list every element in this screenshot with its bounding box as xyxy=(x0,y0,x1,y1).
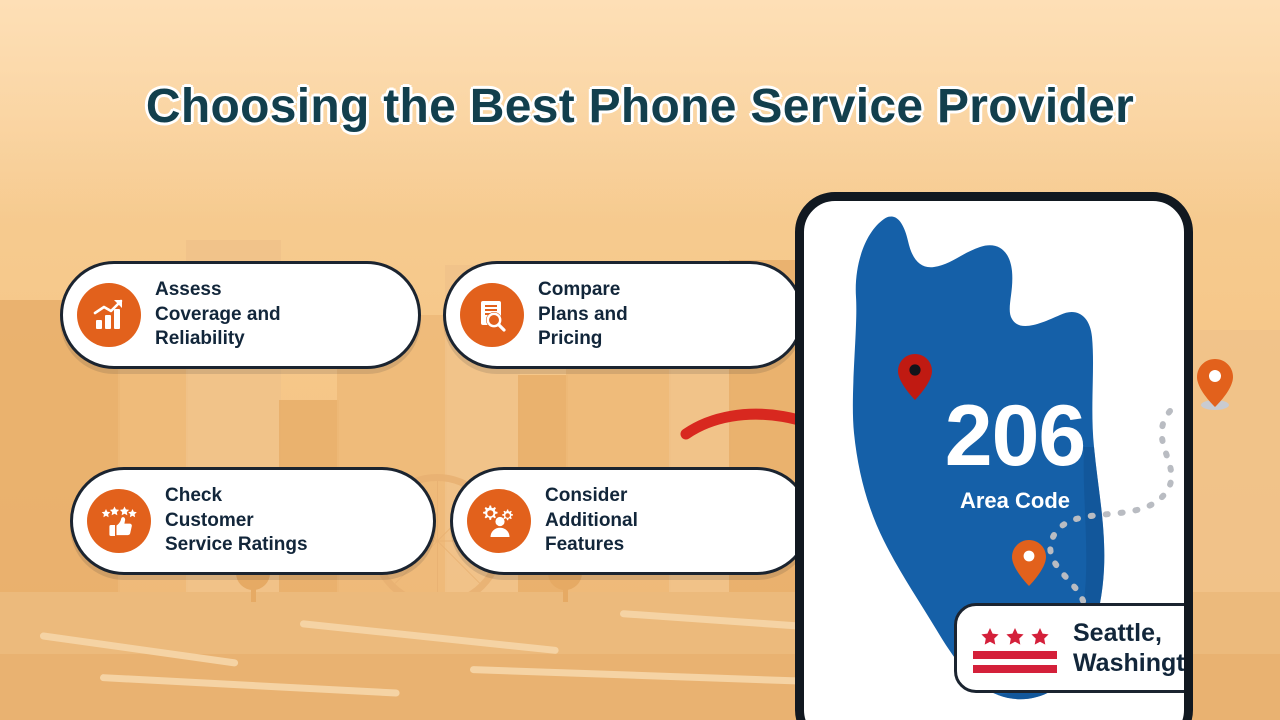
map-pin-primary[interactable] xyxy=(897,353,933,401)
city-name: Seattle, Washington xyxy=(1073,618,1193,678)
person-gear-icon xyxy=(467,489,531,553)
stars-thumbs-up-icon xyxy=(87,489,151,553)
feature-card-coverage[interactable]: Assess Coverage and Reliability xyxy=(60,261,421,369)
feature-label: Consider Additional Features xyxy=(545,484,638,558)
feature-label: Compare Plans and Pricing xyxy=(538,278,628,352)
washington-dc-flag-icon xyxy=(973,620,1057,676)
bar-chart-growth-icon xyxy=(77,283,141,347)
phone-mockup: 206 Area Code xyxy=(795,192,1193,720)
page-title: Choosing the Best Phone Service Provider xyxy=(110,70,1170,144)
feature-card-additional-features[interactable]: Consider Additional Features xyxy=(450,467,811,575)
infographic-canvas: Choosing the Best Phone Service Provider… xyxy=(0,0,1280,720)
feature-card-plans[interactable]: Compare Plans and Pricing xyxy=(443,261,804,369)
city-label-card[interactable]: Seattle, Washington xyxy=(954,603,1193,693)
map-pin-outside[interactable] xyxy=(1195,358,1235,410)
feature-card-ratings[interactable]: Check Customer Service Ratings xyxy=(70,467,436,575)
document-magnifier-icon xyxy=(460,283,524,347)
feature-label: Assess Coverage and Reliability xyxy=(155,278,281,352)
map-pin-secondary[interactable] xyxy=(1011,539,1047,587)
feature-label: Check Customer Service Ratings xyxy=(165,484,308,558)
